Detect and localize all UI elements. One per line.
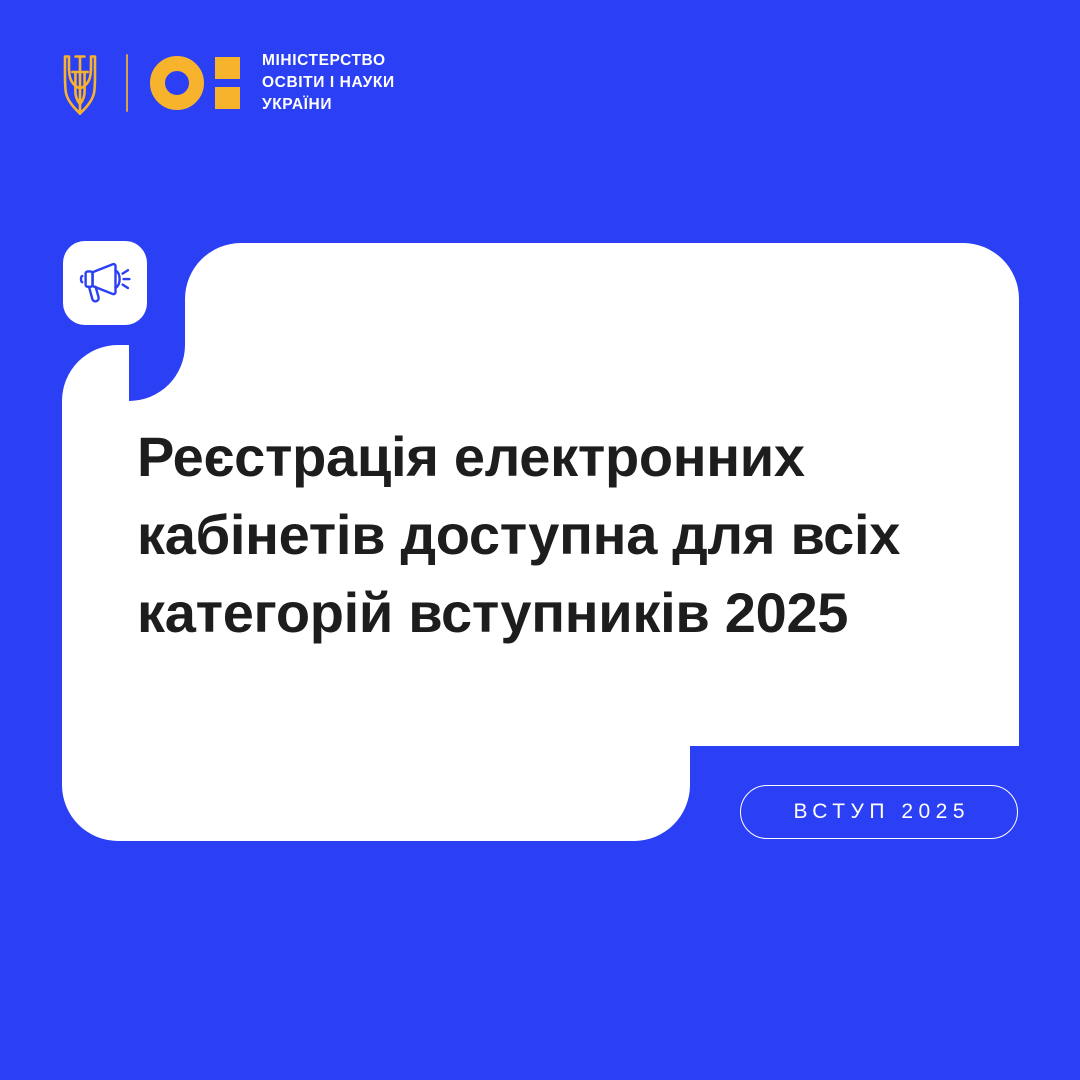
card-notch-bottom-right — [690, 746, 746, 802]
headline-line-3: категорій вступників 2025 — [137, 574, 967, 652]
logo-divider — [126, 54, 128, 112]
ministry-line-1: МІНІСТЕРСТВО — [262, 50, 395, 72]
headline-line-2: кабінетів доступна для всіх — [137, 496, 967, 574]
mark-square-bottom — [215, 87, 240, 109]
headline: Реєстрація електронних кабінетів доступн… — [137, 418, 967, 652]
mon-o-mark-icon — [150, 56, 240, 110]
megaphone-icon — [78, 259, 132, 307]
mark-square-top — [215, 57, 240, 79]
mark-squares — [215, 57, 240, 109]
ministry-name: МІНІСТЕРСТВО ОСВІТИ І НАУКИ УКРАЇНИ — [262, 50, 395, 116]
poster-canvas: МІНІСТЕРСТВО ОСВІТИ І НАУКИ УКРАЇНИ — [0, 0, 1080, 1080]
card-notch-top-left — [129, 345, 185, 401]
status-badge: ВСТУП 2025 — [740, 785, 1018, 839]
status-badge-label: ВСТУП 2025 — [788, 800, 970, 824]
ministry-line-3: УКРАЇНИ — [262, 94, 395, 116]
mark-ring-o — [150, 56, 204, 110]
headline-line-1: Реєстрація електронних — [137, 418, 967, 496]
megaphone-badge — [63, 241, 147, 325]
ukraine-trident-icon — [58, 50, 102, 116]
ministry-line-2: ОСВІТИ І НАУКИ — [262, 72, 395, 94]
ministry-logo: МІНІСТЕРСТВО ОСВІТИ І НАУКИ УКРАЇНИ — [58, 44, 395, 122]
